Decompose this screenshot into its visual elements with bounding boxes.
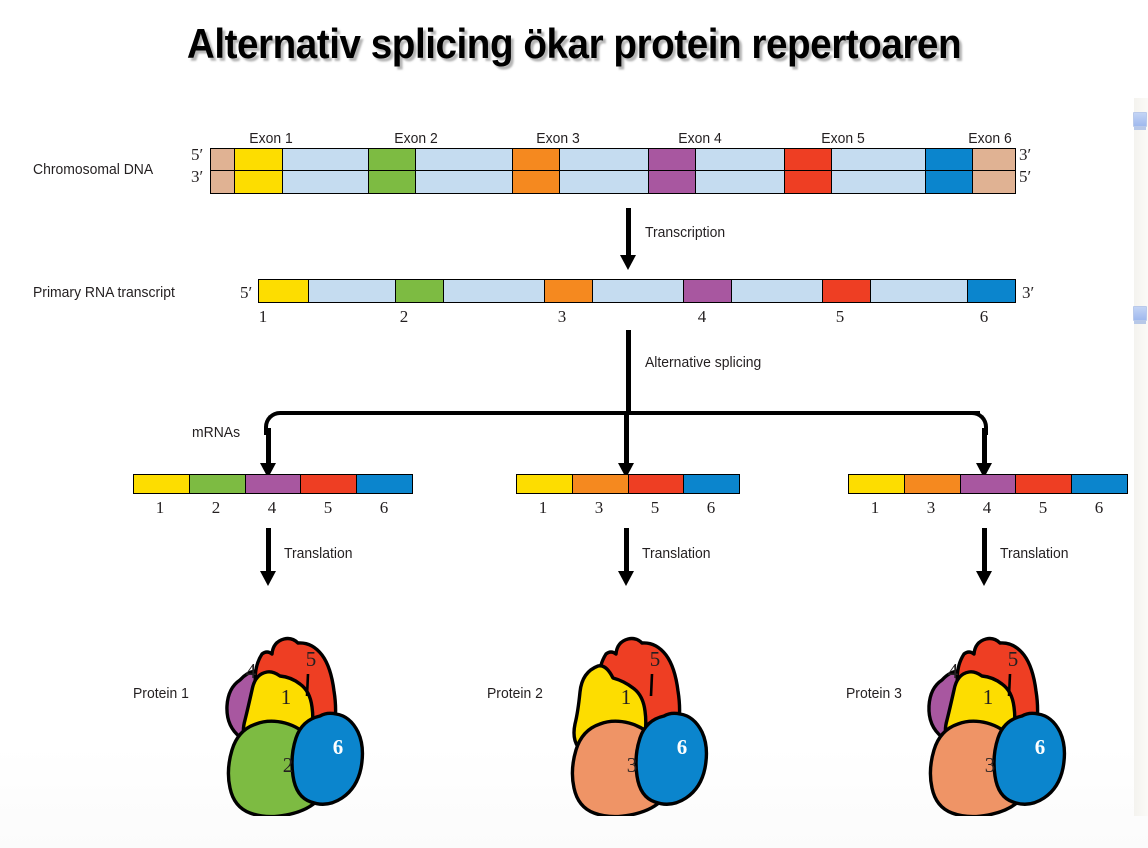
primary-rna-label: Primary RNA transcript: [33, 284, 175, 301]
dna-strand-bottom: [210, 170, 1016, 194]
mrna2-number-4: 6: [707, 498, 716, 518]
protein-1-subunit-2-number: 2: [283, 753, 294, 777]
translation-label-2: Translation: [642, 545, 711, 562]
rna-exon-5: [823, 280, 871, 302]
exon-header-2: Exon 2: [394, 130, 437, 147]
mrna2-exon-3: [573, 475, 629, 493]
dna-exon-5-top: [785, 149, 832, 171]
rna-number-1: 1: [259, 307, 268, 327]
mrna1-number-1: 1: [156, 498, 165, 518]
protein-2-subunit-5-number: 5: [650, 647, 661, 671]
rna-exon-4: [684, 280, 732, 302]
dna-exon-6-top: [926, 149, 973, 171]
protein-3-subunit-1-number: 1: [983, 685, 994, 709]
rna-3prime: 3′: [1022, 283, 1034, 303]
dna-3prime-top: 3′: [1019, 145, 1031, 165]
rna-5prime: 5′: [240, 283, 252, 303]
dna-exon-1-bottom: [235, 171, 284, 193]
exon-header-3: Exon 3: [536, 130, 579, 147]
mrna2-exon-1: [517, 475, 573, 493]
dna-exon-4-top: [649, 149, 696, 171]
mrna1-number-2: 2: [212, 498, 221, 518]
dna-intron-3-bottom: [560, 171, 649, 193]
dna-exon-1-top: [235, 149, 284, 171]
protein-3-label: Protein 3: [846, 685, 902, 702]
mrna3-number-2: 3: [927, 498, 936, 518]
protein-3-subunit-4-number: 4: [948, 659, 959, 683]
dna-flank-left-top: [211, 149, 235, 171]
mrna3-number-3: 4: [983, 498, 992, 518]
rna-intron-3: [593, 280, 684, 302]
protein-2-cleft-5: [651, 674, 652, 696]
mrna2-number-3: 5: [651, 498, 660, 518]
dna-intron-2-bottom: [416, 171, 514, 193]
protein-3-diagram: 4 5 1 3 6: [898, 606, 1108, 816]
mrna1-exon-2: [190, 475, 246, 493]
dna-intron-1-top: [283, 149, 368, 171]
rna-intron-2: [444, 280, 544, 302]
dna-exon-3-top: [513, 149, 560, 171]
rna-exon-6: [968, 280, 1015, 302]
mrna3-exon-6: [1072, 475, 1127, 493]
protein-3-subunit-3-number: 3: [985, 753, 996, 777]
dna-intron-5-top: [832, 149, 926, 171]
chromosomal-dna-label: Chromosomal DNA: [33, 161, 153, 178]
primary-rna-bar: [258, 279, 1016, 303]
mrna3-exon-3: [905, 475, 961, 493]
mrna3-number-5: 6: [1095, 498, 1104, 518]
dna-5prime-bottom: 5′: [1019, 167, 1031, 187]
dna-flank-left-bottom: [211, 171, 235, 193]
protein-1-subunit-6-number: 6: [333, 735, 344, 759]
dna-intron-2-top: [416, 149, 514, 171]
translation-label-3: Translation: [1000, 545, 1069, 562]
protein-2-diagram: 5 1 3 6: [540, 606, 750, 816]
mrna3-number-1: 1: [871, 498, 880, 518]
protein-1-subunit-6: [292, 713, 362, 804]
mrna1-number-5: 6: [380, 498, 389, 518]
dna-intron-4-bottom: [696, 171, 785, 193]
dna-flank-right-bottom: [973, 171, 1015, 193]
rna-exon-3: [545, 280, 593, 302]
mrna-bar-2: [516, 474, 740, 494]
mrna1-exon-4: [246, 475, 302, 493]
protein-3-subunit-6-number: 6: [1035, 735, 1046, 759]
vertical-scrollbar[interactable]: [1134, 98, 1148, 816]
exon-header-6: Exon 6: [968, 130, 1011, 147]
dna-flank-right-top: [973, 149, 1015, 171]
rna-number-4: 4: [698, 307, 707, 327]
protein-1-label: Protein 1: [133, 685, 189, 702]
rna-exon-2: [396, 280, 444, 302]
mrna2-number-2: 3: [595, 498, 604, 518]
scrollbar-thumb-lower[interactable]: [1133, 306, 1147, 321]
dna-intron-3-top: [560, 149, 649, 171]
mrna1-exon-1: [134, 475, 190, 493]
alternative-splicing-label: Alternative splicing: [645, 354, 761, 371]
rna-intron-1: [309, 280, 397, 302]
mrna2-exon-5: [629, 475, 685, 493]
rna-intron-5: [871, 280, 968, 302]
dna-3prime-bottom: 3′: [191, 167, 203, 187]
protein-1-subunit-1-number: 1: [281, 685, 292, 709]
mrna-bar-3: [848, 474, 1128, 494]
slide-canvas: Alternativ splicing ökar protein reperto…: [0, 0, 1148, 848]
dna-exon-3-bottom: [513, 171, 560, 193]
scrollbar-thumb-upper[interactable]: [1133, 112, 1147, 127]
protein-3-cleft-5: [1009, 674, 1010, 696]
transcription-label: Transcription: [645, 224, 725, 241]
mrna2-exon-6: [684, 475, 739, 493]
rna-intron-4: [732, 280, 823, 302]
rna-number-5: 5: [836, 307, 845, 327]
dna-intron-5-bottom: [832, 171, 926, 193]
protein-1-diagram: 4 5 1 2 6: [196, 606, 406, 816]
rna-exon-1: [259, 280, 309, 302]
protein-2-label: Protein 2: [487, 685, 543, 702]
mrna1-number-4: 5: [324, 498, 333, 518]
dna-exon-6-bottom: [926, 171, 973, 193]
protein-1-subunit-4-number: 4: [246, 659, 257, 683]
translation-label-1: Translation: [284, 545, 353, 562]
exon-header-4: Exon 4: [678, 130, 721, 147]
protein-3-subunit-6: [994, 713, 1064, 804]
protein-2-subunit-6-number: 6: [677, 735, 688, 759]
mrna3-exon-4: [961, 475, 1017, 493]
protein-1-cleft-5: [307, 674, 308, 696]
dna-strand-top: [210, 148, 1016, 172]
mrna1-exon-5: [301, 475, 357, 493]
dna-5prime-top: 5′: [191, 145, 203, 165]
protein-2-subunit-1-number: 1: [621, 685, 632, 709]
protein-2-subunit-3-number: 3: [627, 753, 638, 777]
exon-header-1: Exon 1: [249, 130, 292, 147]
protein-1-subunit-5-number: 5: [306, 647, 317, 671]
mrna1-exon-6: [357, 475, 412, 493]
protein-3-subunit-5-number: 5: [1008, 647, 1019, 671]
dna-exon-2-bottom: [369, 171, 416, 193]
dna-intron-1-bottom: [283, 171, 368, 193]
mrna-bar-1: [133, 474, 413, 494]
dna-intron-4-top: [696, 149, 785, 171]
page-title: Alternativ splicing ökar protein reperto…: [46, 20, 1102, 68]
dna-exon-5-bottom: [785, 171, 832, 193]
dna-exon-2-top: [369, 149, 416, 171]
splicing-branch-bus: [280, 411, 980, 415]
mrna2-number-1: 1: [539, 498, 548, 518]
protein-2-subunit-6: [636, 713, 706, 804]
rna-number-3: 3: [558, 307, 567, 327]
dna-exon-4-bottom: [649, 171, 696, 193]
rna-number-6: 6: [980, 307, 989, 327]
mrna1-number-3: 4: [268, 498, 277, 518]
mrna3-exon-1: [849, 475, 905, 493]
splicing-stem: [626, 330, 631, 414]
mrnas-label: mRNAs: [192, 424, 240, 441]
mrna3-exon-5: [1016, 475, 1072, 493]
mrna3-number-4: 5: [1039, 498, 1048, 518]
rna-number-2: 2: [400, 307, 409, 327]
exon-header-5: Exon 5: [821, 130, 864, 147]
